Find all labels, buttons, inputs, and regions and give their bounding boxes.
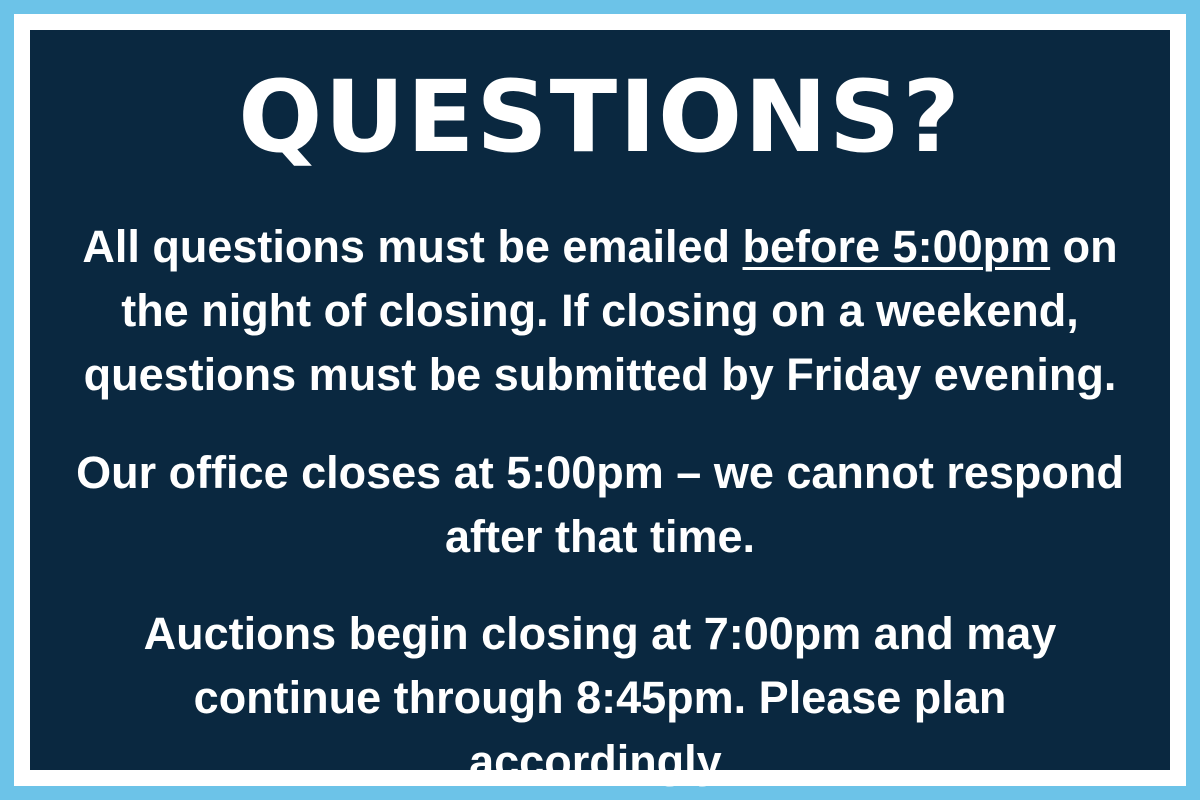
paragraph-auction-closing-times: Auctions begin closing at 7:00pm and may… [62,602,1138,794]
poster-white-frame: QUESTIONS? All questions must be emailed… [14,14,1186,786]
poster-panel: QUESTIONS? All questions must be emailed… [30,30,1170,770]
poster-body: All questions must be emailed before 5:0… [62,215,1138,794]
deadline-emphasis-text: before 5:00pm [743,221,1051,272]
paragraph-lead-text: All questions must be emailed [82,221,742,272]
paragraph-office-hours: Our office closes at 5:00pm – we cannot … [62,441,1138,569]
paragraph-email-deadline: All questions must be emailed before 5:0… [63,215,1138,407]
poster: QUESTIONS? All questions must be emailed… [0,0,1200,800]
page-title: QUESTIONS? [238,68,962,167]
